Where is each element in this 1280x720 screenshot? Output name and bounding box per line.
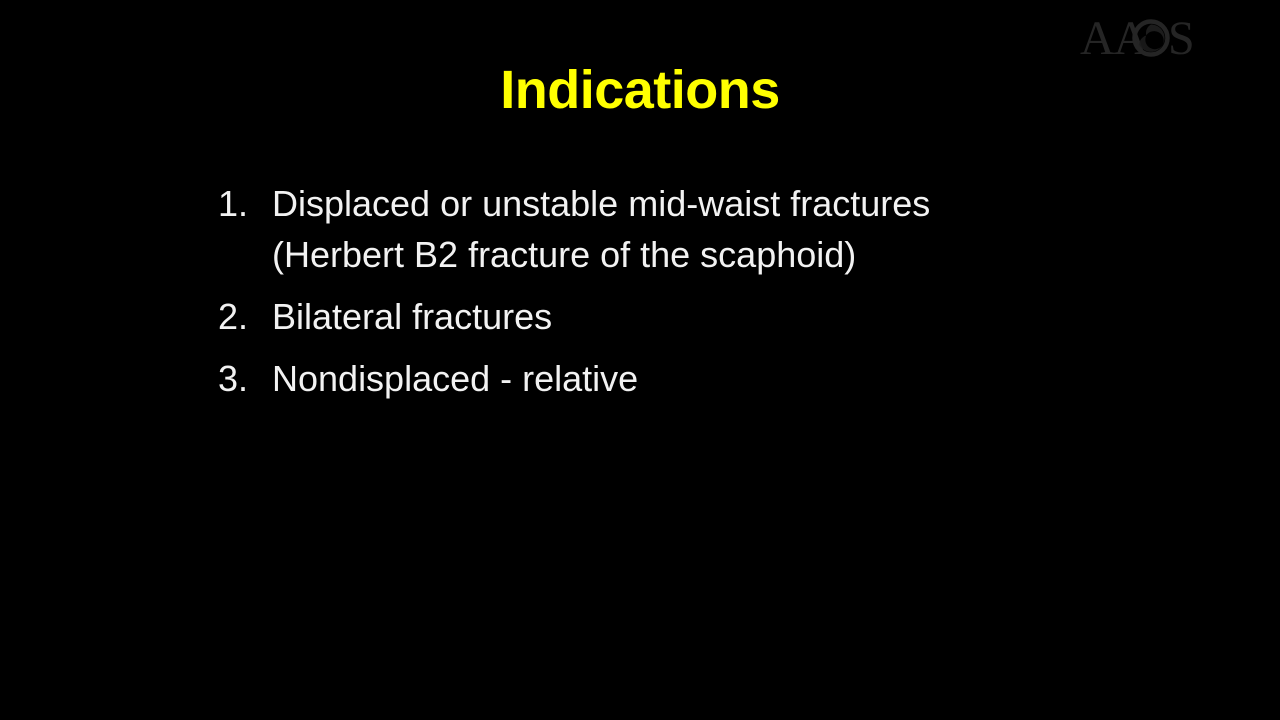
list-item-line: Displaced or unstable mid-waist fracture… (272, 178, 1118, 229)
list-item-line: Bilateral fractures (272, 291, 1118, 342)
aaos-logo-mark: AA S (1080, 14, 1220, 66)
indications-list: 1. Displaced or unstable mid-waist fract… (218, 178, 1118, 404)
svg-text:AA: AA (1080, 14, 1149, 65)
list-item: 1. Displaced or unstable mid-waist fract… (218, 178, 1118, 280)
list-item-text: Displaced or unstable mid-waist fracture… (272, 178, 1118, 280)
list-item-text: Bilateral fractures (272, 291, 1118, 342)
aaos-logo: AA S (1080, 14, 1220, 66)
presentation-slide: AA S Indications 1. Displaced or unstabl… (0, 0, 1280, 720)
svg-text:S: S (1168, 14, 1195, 65)
list-item-text: Nondisplaced - relative (272, 353, 1118, 404)
list-item-marker: 1. (218, 178, 272, 229)
list-item-line: Nondisplaced - relative (272, 353, 1118, 404)
list-item-marker: 2. (218, 291, 272, 342)
list-item-marker: 3. (218, 353, 272, 404)
slide-title: Indications (0, 62, 1280, 119)
list-item: 3. Nondisplaced - relative (218, 353, 1118, 404)
list-item-line: (Herbert B2 fracture of the scaphoid) (272, 229, 1118, 280)
list-item: 2. Bilateral fractures (218, 291, 1118, 342)
